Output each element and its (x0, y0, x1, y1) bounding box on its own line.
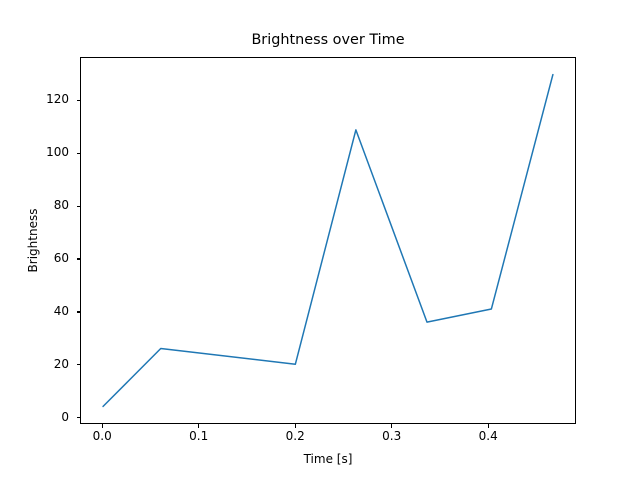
y-tick-mark (77, 364, 81, 365)
x-tick-label: 0.3 (362, 429, 422, 443)
y-tick-label: 20 (9, 357, 69, 371)
y-tick-mark (77, 258, 81, 259)
y-tick-label: 100 (9, 145, 69, 159)
x-tick-mark (102, 424, 103, 428)
plot-axes (80, 57, 576, 424)
x-tick-mark (391, 424, 392, 428)
x-tick-mark (295, 424, 296, 428)
x-tick-label: 0.0 (72, 429, 132, 443)
matplotlib-figure: Brightness over Time Time [s] Brightness… (0, 0, 640, 480)
x-tick-mark (488, 424, 489, 428)
y-tick-label: 120 (9, 92, 69, 106)
y-tick-mark (77, 100, 81, 101)
y-tick-label: 0 (9, 410, 69, 424)
y-tick-label: 40 (9, 304, 69, 318)
x-tick-mark (198, 424, 199, 428)
x-tick-label: 0.4 (458, 429, 518, 443)
x-tick-label: 0.2 (265, 429, 325, 443)
x-tick-label: 0.1 (169, 429, 229, 443)
y-tick-mark (77, 417, 81, 418)
line-plot-svg (81, 58, 575, 423)
y-tick-label: 60 (9, 251, 69, 265)
brightness-series-line (103, 75, 553, 407)
x-axis-label: Time [s] (80, 452, 576, 466)
y-tick-label: 80 (9, 198, 69, 212)
y-tick-mark (77, 311, 81, 312)
y-tick-mark (77, 153, 81, 154)
chart-title: Brightness over Time (80, 31, 576, 49)
y-tick-mark (77, 206, 81, 207)
